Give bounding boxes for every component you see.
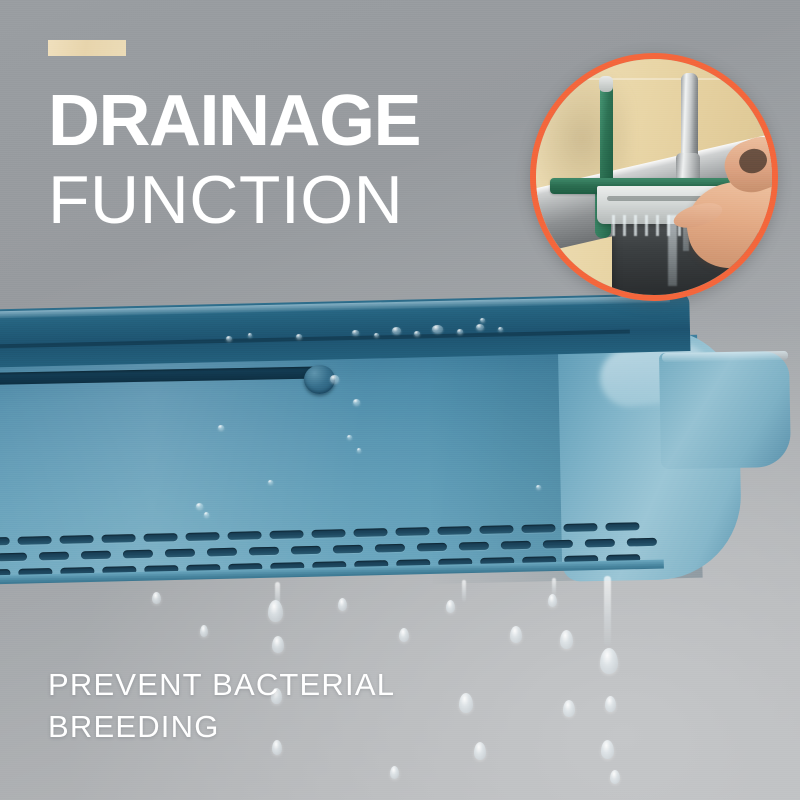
page-subtitle: FUNCTION <box>48 166 420 235</box>
product-side-tab <box>659 351 791 469</box>
drain-slot <box>585 539 615 548</box>
page-title: DRAINAGE <box>48 88 420 154</box>
water-droplet <box>474 742 486 760</box>
water-droplet <box>446 600 455 613</box>
water-bead <box>196 503 203 509</box>
water-stream <box>462 580 466 602</box>
water-droplet <box>200 625 208 637</box>
caption-line-2: BREEDING <box>48 706 395 748</box>
headline-block: DRAINAGE FUNCTION <box>48 40 420 236</box>
drain-slot <box>501 541 531 550</box>
drain-slot <box>395 527 429 536</box>
water-droplet <box>338 598 347 611</box>
inset-demo-photo <box>530 53 778 301</box>
drain-slot <box>417 543 447 552</box>
rack-slot <box>607 196 706 201</box>
water-droplet <box>459 693 473 713</box>
drain-slot <box>375 544 405 553</box>
drain-slot <box>207 548 237 557</box>
drain-slot <box>60 535 94 544</box>
water-bead <box>476 324 484 330</box>
rack-support-arm <box>600 78 613 187</box>
water-bead <box>296 334 302 339</box>
water-bead <box>357 448 361 452</box>
drain-slot <box>479 525 513 534</box>
water-bead <box>536 485 541 489</box>
water-bead <box>457 329 463 334</box>
caption-text: PREVENT BACTERIAL BREEDING <box>48 664 395 748</box>
water-droplet <box>610 770 620 784</box>
drain-slot <box>563 523 597 532</box>
drain-slot <box>437 526 471 535</box>
drain-slot <box>543 540 573 549</box>
water-droplet <box>510 626 522 643</box>
water-droplet <box>399 628 409 642</box>
water-bead <box>330 375 339 383</box>
water-bead <box>204 512 209 517</box>
wall-seam <box>536 78 772 80</box>
drain-slot <box>311 529 345 538</box>
water-bead <box>374 333 379 337</box>
water-bead <box>414 331 420 336</box>
water-droplet <box>601 740 614 759</box>
drain-slot <box>249 547 279 556</box>
drain-slot <box>0 537 10 546</box>
water-droplet <box>268 600 283 622</box>
water-bead <box>432 325 443 333</box>
water-droplet <box>548 594 557 607</box>
water-bead <box>347 435 352 439</box>
drain-slot <box>353 528 387 537</box>
drain-slot <box>605 522 639 531</box>
inset-photo-scene <box>536 59 772 295</box>
drain-slot <box>291 546 321 555</box>
caption-line-1: PREVENT BACTERIAL <box>48 664 395 706</box>
drain-slot <box>269 530 303 539</box>
water-bead <box>352 330 359 335</box>
drain-slot <box>81 551 111 560</box>
water-droplet <box>390 766 399 779</box>
water-droplet <box>600 648 618 674</box>
drain-slot <box>18 536 52 545</box>
water-bead <box>498 327 503 331</box>
water-droplet <box>605 696 616 712</box>
accent-bar <box>48 40 126 56</box>
drain-slot <box>521 524 555 533</box>
water-bead <box>226 336 232 341</box>
drain-slot <box>227 531 261 540</box>
drain-slot <box>144 533 178 542</box>
product-marketing-poster: DRAINAGE FUNCTION PREVENT BACTERIAL BREE… <box>0 0 800 800</box>
water-bead <box>392 327 401 334</box>
drain-slot <box>459 542 489 551</box>
drain-slot <box>333 545 363 554</box>
water-bead <box>480 318 485 322</box>
drain-slot <box>123 550 153 559</box>
drain-slot <box>39 552 69 561</box>
water-droplet <box>563 700 575 717</box>
water-bead <box>248 333 252 337</box>
drain-slot <box>185 532 219 541</box>
drain-slot <box>0 553 27 562</box>
water-droplet <box>152 592 161 604</box>
water-stream <box>604 576 611 646</box>
rack-arm-cap <box>599 76 613 92</box>
water-droplet <box>272 636 284 653</box>
drain-slot <box>102 534 136 543</box>
water-bead <box>268 480 273 484</box>
water-bead <box>218 425 224 430</box>
drain-slot <box>627 538 657 547</box>
drain-slot <box>165 549 195 558</box>
water-droplet <box>560 630 573 649</box>
water-bead <box>353 399 360 405</box>
